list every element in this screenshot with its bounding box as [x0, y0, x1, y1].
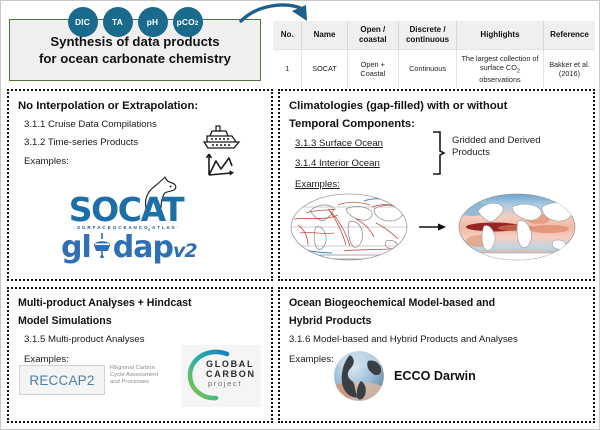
glodap-version: v2: [173, 242, 197, 261]
parameter-circle-ph: pH: [138, 7, 168, 37]
figure-canvas: Synthesis of data products for ocean car…: [0, 0, 600, 430]
gcp-line2: CARBON: [206, 369, 256, 379]
gcp-wordmark: GLOBAL CARBON project: [206, 359, 256, 388]
cell-ref-l2: (2016): [546, 69, 593, 78]
cell-highlights: The largest collection of surface CO2 ob…: [457, 49, 544, 88]
cell-discrete-continuous: Continuous: [399, 49, 457, 88]
parameter-circle-dic: DIC: [68, 7, 98, 37]
table-col-highlights: Highlights: [457, 21, 544, 49]
item-3-1-5: 3.1.5 Multi-product Analyses: [24, 334, 262, 346]
glodap-word-pre: gl: [61, 233, 91, 263]
gridded-label-l1: Gridded and Derived: [452, 135, 541, 147]
ecco-darwin-logo: ECCO Darwin: [334, 351, 476, 401]
parameter-label-pco2: pCO: [177, 17, 195, 27]
socat-logo: SOCAT · S U R F A C E O C E A N C O2 A T…: [57, 195, 195, 232]
parameter-label-pco2-sub: 2: [195, 21, 199, 27]
parameter-label-ph: pH: [147, 17, 159, 27]
reccap2-tagline-l2: Cycle Assessment: [110, 372, 174, 379]
reccap2-tagline: REgional Carbon Cycle Assessment and Pro…: [110, 365, 174, 387]
rosette-sampler-icon: [91, 232, 113, 264]
ecco-darwin-wordmark: ECCO Darwin: [394, 369, 476, 383]
sparse-observations-map: [286, 189, 412, 265]
parameter-circle-ta: TA: [103, 7, 133, 37]
panel-no-interpolation: No Interpolation or Extrapolation: 3.1.1…: [7, 89, 273, 281]
gcp-line3: project: [208, 379, 256, 388]
cell-open-l2: Coastal: [350, 69, 397, 78]
cell-high-l1: The largest collection of: [459, 54, 541, 63]
cell-high-l2: surface CO2 observations: [459, 63, 541, 85]
gcp-line1: GLOBAL: [206, 359, 256, 369]
cell-ref-l1: Bakker et al.: [546, 60, 593, 69]
col-open-l1: Open /: [350, 25, 397, 35]
parameter-circle-pco2: pCO2: [173, 7, 203, 37]
curved-arrow-icon: [237, 0, 317, 33]
cell-name: SOCAT: [302, 49, 347, 88]
synthesis-title-line2: for ocean carbonate chemistry: [39, 50, 231, 67]
products-table-wrapper: No. Name Open / coastal Discrete / conti…: [273, 21, 595, 83]
gridded-derived-label: Gridded and Derived Products: [452, 135, 541, 160]
ecco-globe-icon: [334, 351, 384, 401]
parameter-label-dic: DIC: [75, 17, 90, 27]
item-3-1-6: 3.1.6 Model-based and Hybrid Products an…: [289, 334, 584, 346]
table-col-reference: Reference: [543, 21, 595, 49]
reccap2-logo: RECCAP2: [19, 365, 105, 395]
table-header-row: No. Name Open / coastal Discrete / conti…: [273, 21, 595, 49]
panel-multi-title-l1: Multi-product Analyses + Hindcast: [18, 297, 262, 311]
parameter-label-ta: TA: [112, 17, 123, 27]
cell-open-l1: Open +: [350, 60, 397, 69]
products-table: No. Name Open / coastal Discrete / conti…: [273, 21, 595, 88]
panel-model-based: Ocean Biogeochemical Model-based and Hyb…: [278, 287, 595, 423]
cell-high-l2-pre: surface CO: [480, 63, 517, 72]
col-disc-l1: Discrete /: [401, 25, 454, 35]
climatology-maps: [286, 189, 586, 269]
table-col-discrete-continuous: Discrete / continuous: [399, 21, 457, 49]
reccap2-wordmark: RECCAP2: [29, 373, 94, 388]
parameter-circles: DIC TA pH pCO2: [9, 7, 261, 37]
gridded-label-l2: Products: [452, 147, 541, 159]
col-open-l2: coastal: [350, 35, 397, 45]
col-high-l1: Highlights: [480, 30, 519, 39]
cell-no: 1: [273, 49, 302, 88]
col-ref-l1: Reference: [550, 30, 589, 39]
timeseries-icon: [205, 149, 237, 177]
panel-climatologies-title-l1: Climatologies (gap-filled) with or witho…: [289, 99, 584, 113]
table-col-open-coastal: Open / coastal: [347, 21, 399, 49]
glodap-word-post: dap: [113, 233, 173, 263]
glodap-logo: gl dap v2: [61, 231, 211, 263]
panel-model-title-l1: Ocean Biogeochemical Model-based and: [289, 297, 584, 311]
table-row: 1 SOCAT Open + Coastal Continuous The la…: [273, 49, 595, 88]
col-disc-l2: continuous: [401, 35, 454, 45]
panel-model-title-l2: Hybrid Products: [289, 315, 584, 329]
cell-high-l2-post: observations: [479, 75, 520, 84]
glodap-wordmark: gl dap v2: [61, 231, 211, 263]
gap-filled-map: [454, 189, 580, 265]
cell-high-l2-sub: 2: [517, 68, 520, 74]
panel-multi-product: Multi-product Analyses + Hindcast Model …: [7, 287, 273, 423]
reccap2-tagline-l1: REgional Carbon: [110, 365, 174, 372]
ship-icon: [201, 125, 243, 151]
map-transform-arrow-icon: [418, 219, 448, 235]
reccap2-tagline-l3: and Processes: [110, 379, 174, 386]
cell-open-coastal: Open + Coastal: [347, 49, 399, 88]
curly-brace-icon: [430, 131, 446, 175]
panel-climatologies-title-l2: Temporal Components:: [289, 117, 584, 131]
panel-no-interpolation-title: No Interpolation or Extrapolation:: [18, 99, 262, 113]
socat-wordmark: SOCAT: [57, 195, 195, 225]
panel-climatologies: Climatologies (gap-filled) with or witho…: [278, 89, 595, 281]
global-carbon-project-logo: GLOBAL CARBON project: [181, 345, 261, 407]
cell-reference: Bakker et al. (2016): [543, 49, 595, 88]
panel-multi-title-l2: Model Simulations: [18, 315, 262, 329]
